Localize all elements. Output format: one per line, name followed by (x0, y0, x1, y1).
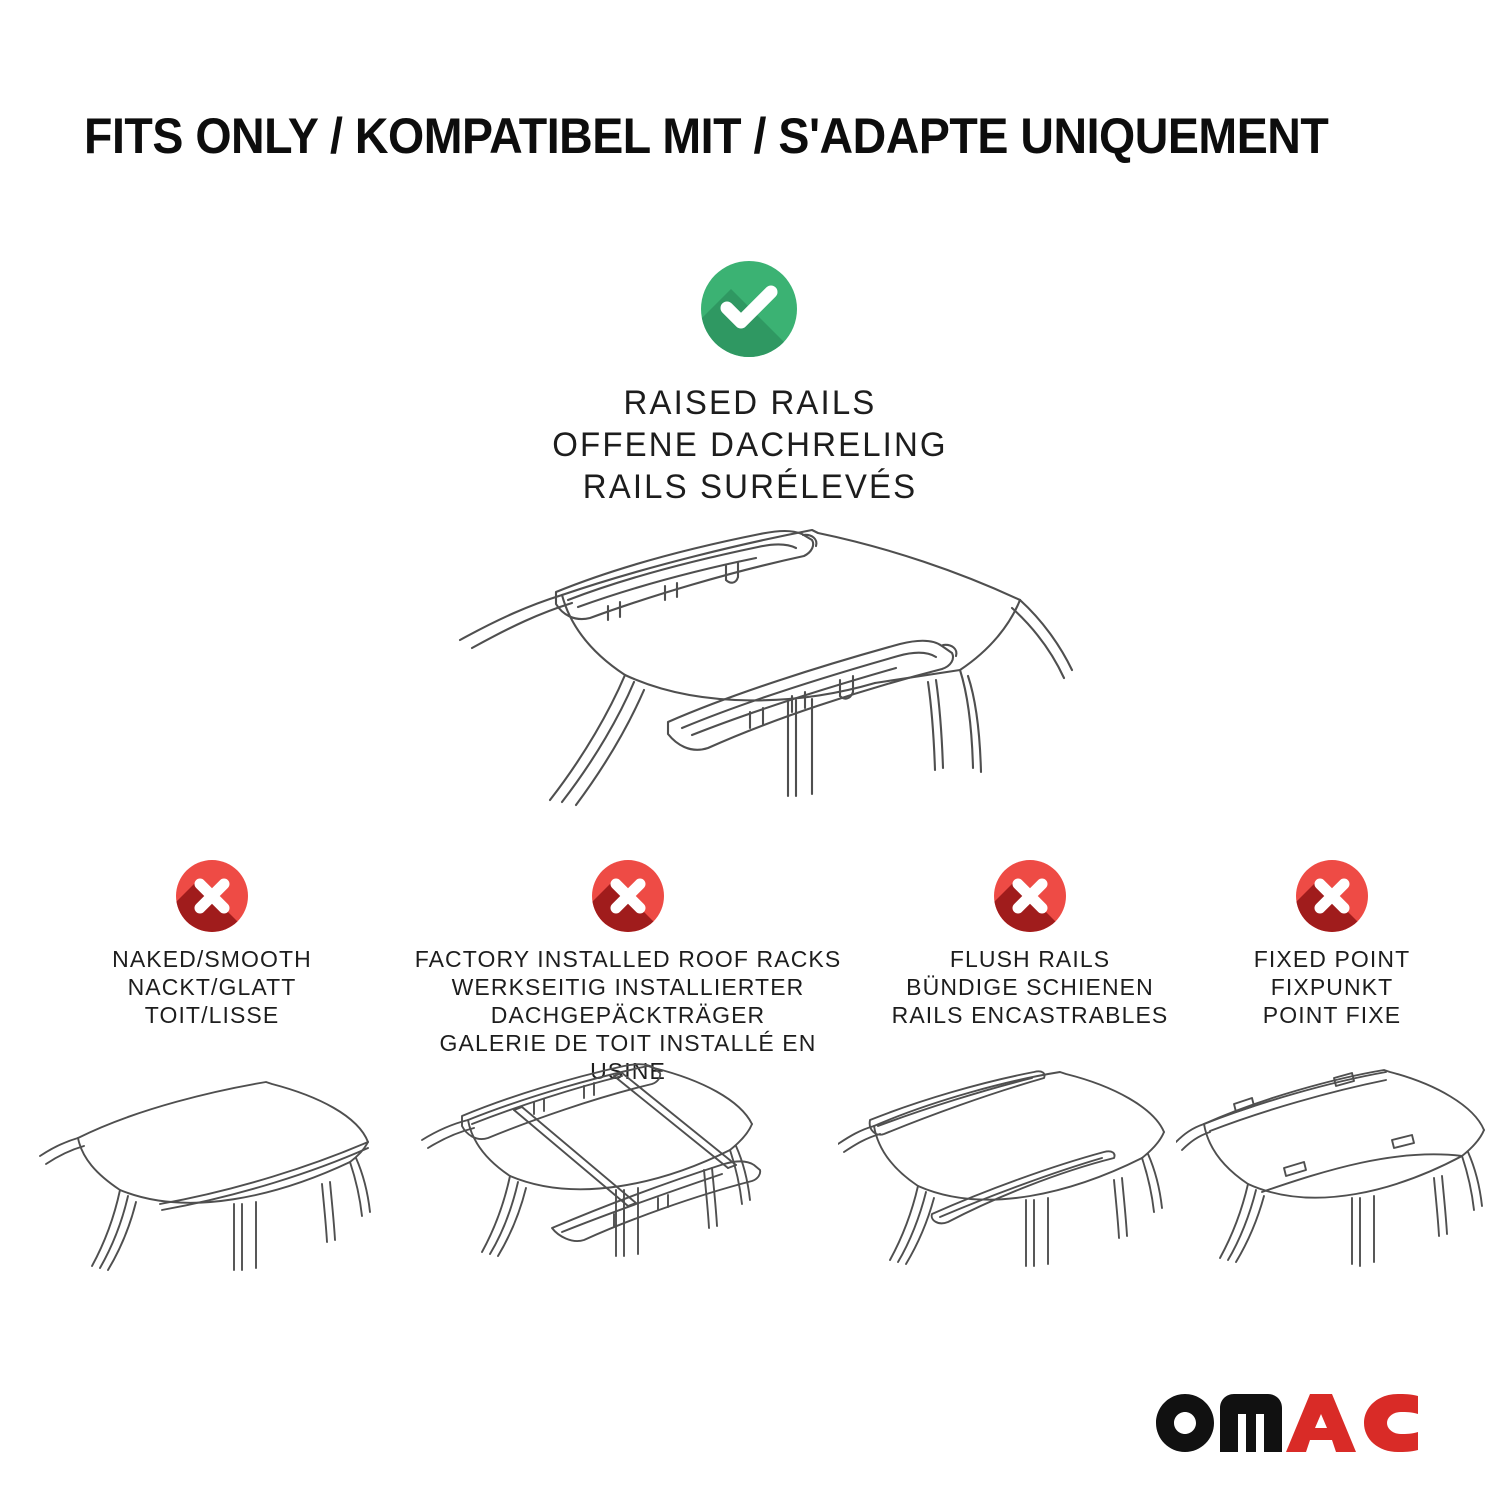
omac-logo-mark (1156, 1394, 1426, 1452)
cross-mark-glyph (994, 860, 1066, 932)
cross-mark-glyph (592, 860, 664, 932)
logo-letter-c (1364, 1394, 1418, 1452)
cross-mark-glyph (176, 860, 248, 932)
cross-circle-icon-naked-smooth (176, 860, 248, 932)
label-line-fr: POINT FIXE (1212, 1001, 1452, 1029)
cross-mark-glyph (1296, 860, 1368, 932)
label-line-en: FIXED POINT (1212, 945, 1452, 973)
incompatible-label-naked-smooth: NAKED/SMOOTH NACKT/GLATT TOIT/LISSE (52, 945, 372, 1029)
compatible-label-line-en: RAISED RAILS (411, 382, 1090, 424)
page-title: FITS ONLY / KOMPATIBEL MIT / S'ADAPTE UN… (84, 108, 1330, 164)
logo-letter-m (1220, 1394, 1282, 1452)
logo-letter-a (1286, 1394, 1356, 1452)
logo-letter-o (1156, 1394, 1214, 1452)
cross-circle-icon-fixed-point (1296, 860, 1368, 932)
car-roof-flush-rails-illustration (838, 1058, 1224, 1294)
compatible-label: RAISED RAILS OFFENE DACHRELING RAILS SUR… (411, 382, 1090, 508)
car-roof-fixed-point-illustration (1176, 1058, 1500, 1294)
label-line-fr: RAILS ENCASTRABLES (862, 1001, 1198, 1029)
label-line-en: NAKED/SMOOTH (52, 945, 372, 973)
car-roof-naked-smooth-illustration (38, 1058, 424, 1294)
label-line-en: FLUSH RAILS (862, 945, 1198, 973)
label-line-de: BÜNDIGE SCHIENEN (862, 973, 1198, 1001)
omac-logo (1156, 1394, 1426, 1452)
check-mark-glyph (701, 261, 797, 357)
check-circle-icon (701, 261, 797, 357)
incompatible-label-fixed-point: FIXED POINT FIXPUNKT POINT FIXE (1212, 945, 1452, 1029)
label-line-de: NACKT/GLATT (52, 973, 372, 1001)
label-line-de-1: WERKSEITIG INSTALLIERTER (398, 973, 858, 1001)
cross-circle-icon-flush-rails (994, 860, 1066, 932)
compatible-label-line-de: OFFENE DACHRELING (411, 424, 1090, 466)
label-line-fr: TOIT/LISSE (52, 1001, 372, 1029)
car-roof-raised-rails-illustration (420, 500, 1080, 830)
label-line-de-2: DACHGEPÄCKTRÄGER (398, 1001, 858, 1029)
label-line-en: FACTORY INSTALLED ROOF RACKS (398, 945, 858, 973)
cross-circle-icon-factory-racks (592, 860, 664, 932)
car-roof-factory-roof-racks-illustration (418, 1058, 822, 1294)
incompatible-label-flush-rails: FLUSH RAILS BÜNDIGE SCHIENEN RAILS ENCAS… (862, 945, 1198, 1029)
label-line-de: FIXPUNKT (1212, 973, 1452, 1001)
